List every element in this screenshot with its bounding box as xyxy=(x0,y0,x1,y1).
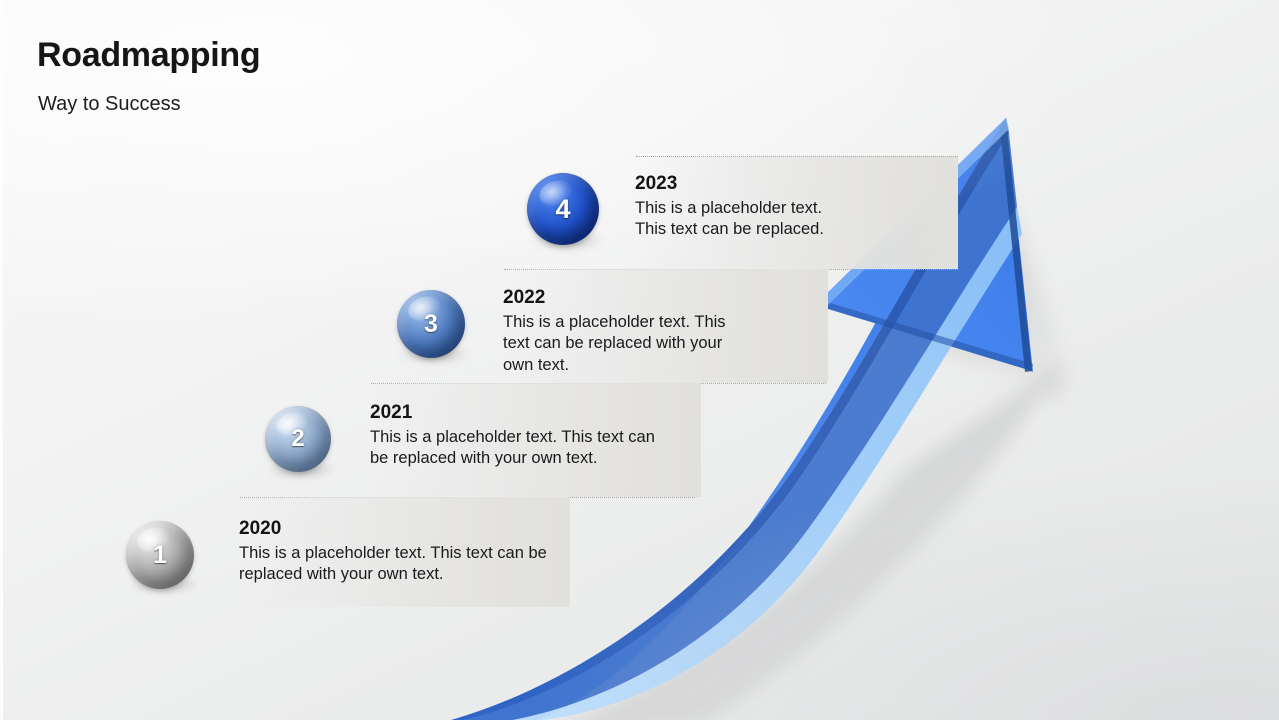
step-body-2022-line2: text can be replaced with your xyxy=(503,333,803,354)
step-body-2020-line1: This is a placeholder text. This text ca… xyxy=(239,543,579,564)
step-body-2023-line2: This text can be replaced. xyxy=(635,219,965,240)
step-separator-2023-top xyxy=(636,156,958,157)
step-year-2021: 2021 xyxy=(370,403,700,423)
step-number-2: 2 xyxy=(265,406,331,472)
step-number-1: 1 xyxy=(126,521,194,589)
roadmap-step-marker-2[interactable]: 2 xyxy=(265,406,331,472)
step-body-2021-line1: This is a placeholder text. This text ca… xyxy=(370,427,700,448)
step-number-4: 4 xyxy=(527,173,599,245)
step-body-2020-line2: replaced with your own text. xyxy=(239,564,579,585)
step-body-2022-line3: own text. xyxy=(503,355,803,376)
step-body-2021-line2: be replaced with your own text. xyxy=(370,448,700,469)
step-year-2020: 2020 xyxy=(239,519,579,539)
step-body-2022-line1: This is a placeholder text. This xyxy=(503,312,803,333)
slide-canvas: Roadmapping Way to Success 4 2023 This i… xyxy=(0,0,1279,720)
step-content-2023: 2023 This is a placeholder text. This te… xyxy=(635,174,965,241)
step-year-2023: 2023 xyxy=(635,174,965,194)
step-year-2022: 2022 xyxy=(503,288,803,308)
page-subtitle: Way to Success xyxy=(38,93,181,116)
roadmap-step-marker-3[interactable]: 3 xyxy=(397,290,465,358)
step-content-2020: 2020 This is a placeholder text. This te… xyxy=(239,519,579,586)
roadmap-step-marker-4[interactable]: 4 xyxy=(527,173,599,245)
page-title: Roadmapping xyxy=(37,36,260,75)
step-content-2021: 2021 This is a placeholder text. This te… xyxy=(370,403,700,470)
step-content-2022: 2022 This is a placeholder text. This te… xyxy=(503,288,803,376)
roadmap-step-marker-1[interactable]: 1 xyxy=(126,521,194,589)
step-number-3: 3 xyxy=(397,290,465,358)
step-body-2023-line1: This is a placeholder text. xyxy=(635,198,965,219)
